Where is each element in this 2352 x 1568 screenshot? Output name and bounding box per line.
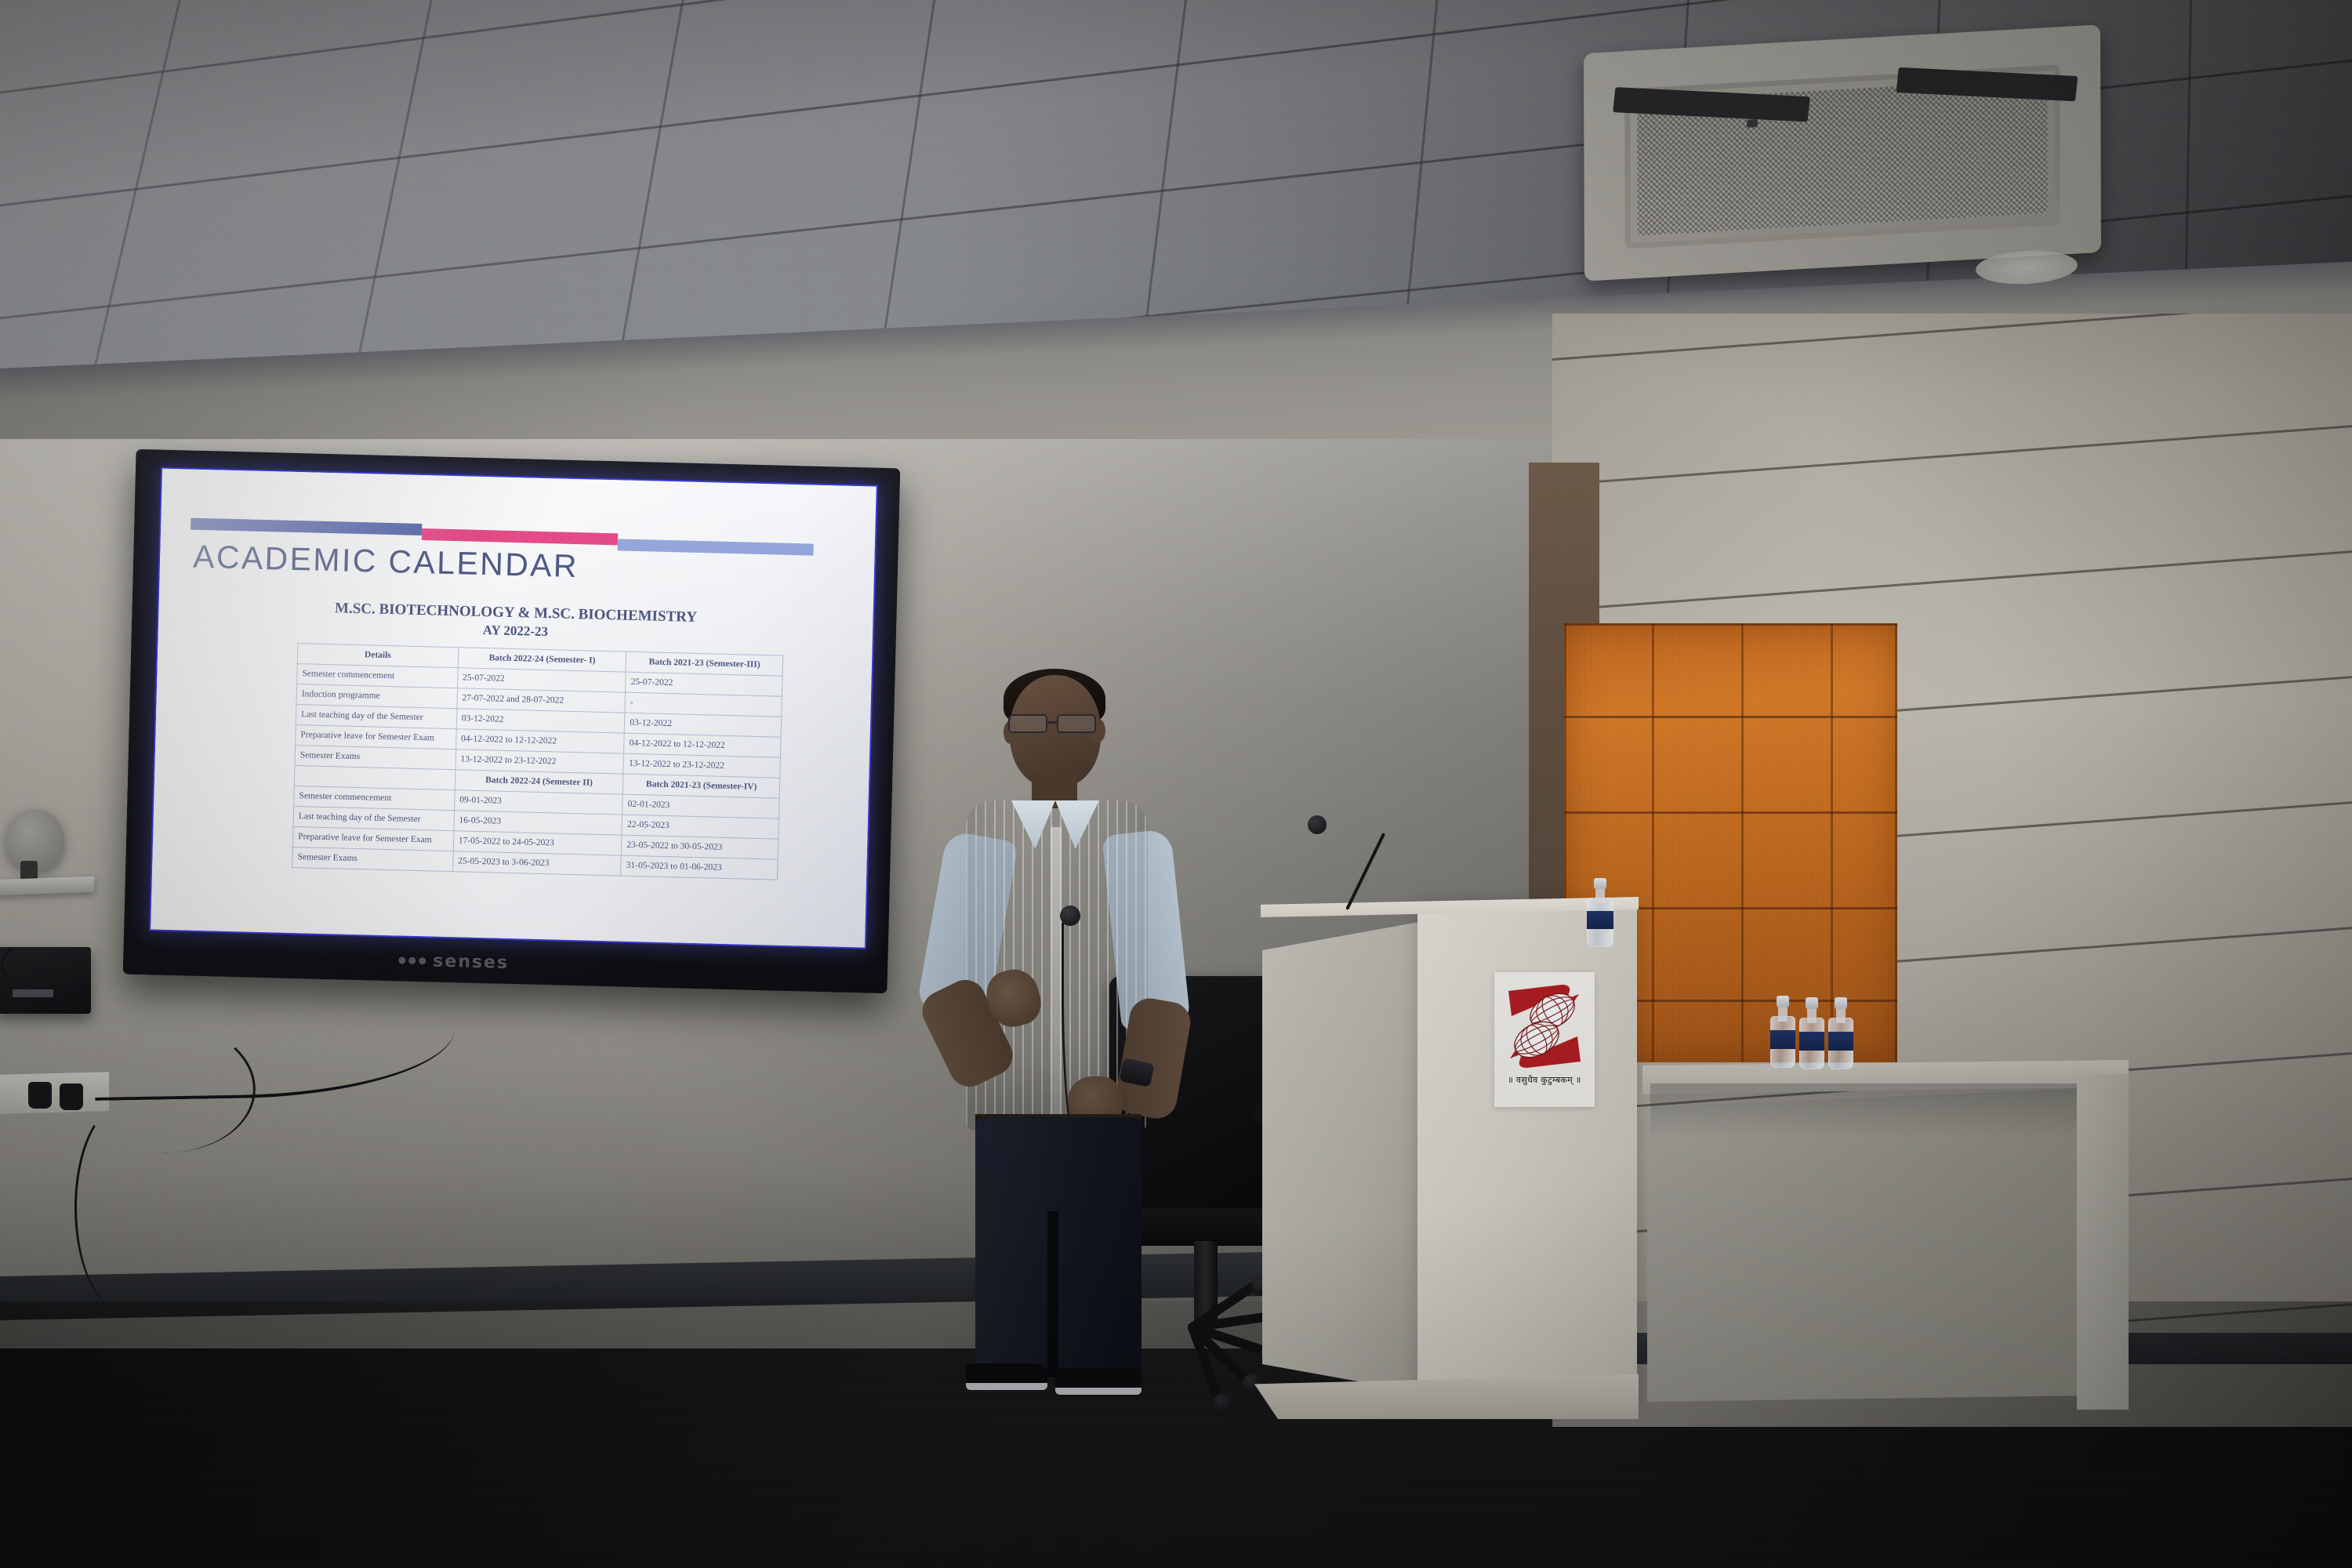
academic-calendar-table: DetailsBatch 2022-24 (Semester- I)Batch …	[292, 643, 783, 880]
table-cell: 25-05-2023 to 3-06-2023	[452, 851, 621, 876]
display-brand: senses	[398, 950, 509, 973]
presenter-shoe-left	[966, 1363, 1047, 1390]
orange-panel-line-h	[1564, 716, 1897, 718]
presenter-trousers	[975, 1117, 1142, 1376]
desk-leg	[2077, 1074, 2129, 1410]
smart-display[interactable]: ACADEMIC CALENDAR M.SC. BIOTECHNOLOGY & …	[123, 449, 901, 993]
orange-panel-line-h	[1564, 811, 1897, 814]
seminar-hall-scene: ACADEMIC CALENDAR M.SC. BIOTECHNOLOGY & …	[0, 0, 2352, 1568]
shirt-placket	[1051, 827, 1062, 1125]
water-bottle-2[interactable]	[1799, 997, 1824, 1069]
shoe-sole-left	[966, 1383, 1047, 1390]
institution-logo: ॥ वसुधैव कुटुम्बकम् ॥	[1494, 972, 1595, 1107]
accent-bar-2	[422, 528, 618, 545]
accent-bar-3	[618, 539, 814, 555]
water-bottle-podium[interactable]	[1587, 878, 1613, 947]
side-desk[interactable]	[1642, 1060, 2129, 1421]
glasses-icon	[1005, 714, 1105, 735]
brand-name-label: senses	[433, 952, 509, 973]
microphone-icon[interactable]	[1308, 815, 1327, 834]
water-bottle-1[interactable]	[1770, 996, 1795, 1068]
slide-title: ACADEMIC CALENDAR	[193, 539, 579, 585]
chair-caster	[1213, 1393, 1233, 1414]
orange-panel-line-v	[1741, 623, 1744, 1062]
air-conditioner-icon	[1584, 24, 2101, 281]
orange-panel-line-v	[1831, 623, 1833, 1062]
water-bottle-3[interactable]	[1828, 997, 1853, 1069]
table-cell: 31-05-2023 to 01-06-2023	[621, 855, 778, 880]
av-box-label-strip	[13, 989, 53, 997]
glasses-lens-right	[1057, 714, 1096, 733]
shoe-sole-right	[1055, 1388, 1142, 1395]
orange-panel-line-v	[1895, 623, 1897, 1062]
orange-panel-line-h	[1564, 623, 1897, 626]
brand-dots-icon	[398, 956, 426, 964]
table-cell: Semester Exams	[292, 847, 453, 871]
table-caption: M.SC. BIOTECHNOLOGY & M.SC. BIOCHEMISTRY…	[158, 594, 873, 650]
podium[interactable]: ॥ वसुधैव कुटुम्बकम् ॥	[1247, 894, 1639, 1427]
presenter	[894, 670, 1207, 1399]
ac-sensor-icon	[1747, 119, 1758, 128]
presenter-shoe-right	[1055, 1368, 1142, 1395]
trouser-leg-gap	[1047, 1211, 1058, 1377]
presentation-slide: ACADEMIC CALENDAR M.SC. BIOTECHNOLOGY & …	[151, 469, 877, 948]
accent-bar-1	[191, 517, 422, 535]
orange-panel-line-v	[1652, 623, 1654, 1062]
cable-3	[74, 1105, 169, 1309]
display-screen[interactable]: ACADEMIC CALENDAR M.SC. BIOTECHNOLOGY & …	[151, 469, 877, 948]
desk-shading	[1650, 1083, 2078, 1138]
globe-s-logo-icon	[1504, 980, 1585, 1073]
power-plug-1[interactable]	[28, 1082, 52, 1109]
podium-side-panel	[1262, 922, 1419, 1392]
glasses-lens-left	[1008, 714, 1047, 733]
logo-sanskrit-text: ॥ वसुधैव कुटुम्बकम् ॥	[1508, 1074, 1581, 1086]
